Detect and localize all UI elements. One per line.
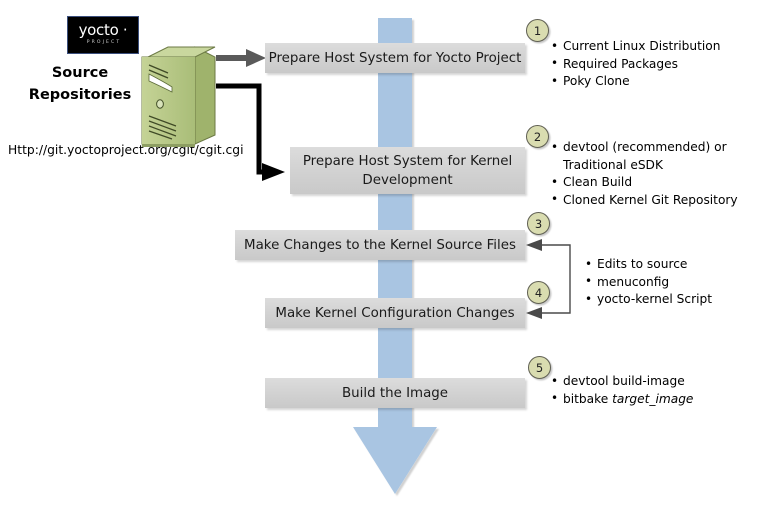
step-number-4: 4 [535, 286, 542, 300]
step1-bullet-list: Current Linux Distribution Required Pack… [551, 38, 720, 91]
list-item: menuconfig [585, 274, 712, 292]
process-box-step2-line2: Development [362, 173, 452, 188]
source-label-line2: Repositories [20, 84, 140, 106]
list-item: Cloned Kernel Git Repository [551, 192, 738, 210]
process-box-step2-label: Prepare Host System for Kernel Developme… [303, 152, 512, 190]
yocto-project-logo: yocto · PROJECT [67, 16, 139, 54]
logo-subtext: PROJECT [87, 39, 122, 47]
source-label-line1: Source [20, 62, 140, 84]
source-repositories-label: Source Repositories [20, 62, 140, 106]
step-number-badge-4: 4 [527, 281, 550, 304]
connector-to-step2 [216, 86, 285, 181]
step-number-2: 2 [534, 130, 541, 144]
step2-bullet-list: devtool (recommended) or Traditional eSD… [551, 139, 738, 209]
server-tower-icon [138, 43, 216, 148]
process-box-step3-label: Make Changes to the Kernel Source Files [244, 236, 516, 255]
step-number-badge-1: 1 [526, 19, 549, 42]
list-item-line1: devtool (recommended) or [563, 139, 738, 157]
process-box-step5-label: Build the Image [342, 384, 448, 403]
process-box-step4[interactable]: Make Kernel Configuration Changes [265, 298, 525, 328]
process-box-step3[interactable]: Make Changes to the Kernel Source Files [235, 230, 525, 260]
process-box-step5[interactable]: Build the Image [265, 378, 525, 408]
list-item: devtool build-image [551, 373, 693, 391]
process-box-step4-label: Make Kernel Configuration Changes [275, 304, 514, 323]
process-box-step1-label: Prepare Host System for Yocto Project [269, 49, 522, 68]
list-item: bitbake target_image [551, 391, 693, 409]
step5-bullet-list: devtool build-image bitbake target_image [551, 373, 693, 408]
list-item: devtool (recommended) or Traditional eSD… [551, 139, 738, 174]
step-number-3: 3 [535, 217, 542, 231]
step34-bullet-list: Edits to source menuconfig yocto-kernel … [585, 256, 712, 309]
diagram-canvas: yocto · PROJECT Source Repositories Http… [0, 0, 769, 517]
step-number-badge-3: 3 [527, 212, 550, 235]
logo-wordmark: yocto · [79, 23, 128, 38]
list-item: yocto-kernel Script [585, 291, 712, 309]
list-item: Clean Build [551, 174, 738, 192]
step-number-5: 5 [536, 361, 543, 375]
process-box-step1[interactable]: Prepare Host System for Yocto Project [265, 43, 525, 73]
connector-to-step1 [216, 49, 266, 67]
list-item: Edits to source [585, 256, 712, 274]
list-item-prefix: bitbake [563, 392, 612, 406]
list-item: Current Linux Distribution [551, 38, 720, 56]
process-box-step2[interactable]: Prepare Host System for Kernel Developme… [290, 147, 525, 194]
list-item-line2: Traditional eSDK [563, 157, 738, 175]
list-item: Poky Clone [551, 73, 720, 91]
step-number-1: 1 [534, 24, 541, 38]
process-box-step2-line1: Prepare Host System for Kernel [303, 154, 512, 169]
step-number-badge-5: 5 [528, 356, 551, 379]
list-item: Required Packages [551, 56, 720, 74]
list-item-italic-value: target_image [612, 392, 693, 406]
step-number-badge-2: 2 [526, 125, 549, 148]
